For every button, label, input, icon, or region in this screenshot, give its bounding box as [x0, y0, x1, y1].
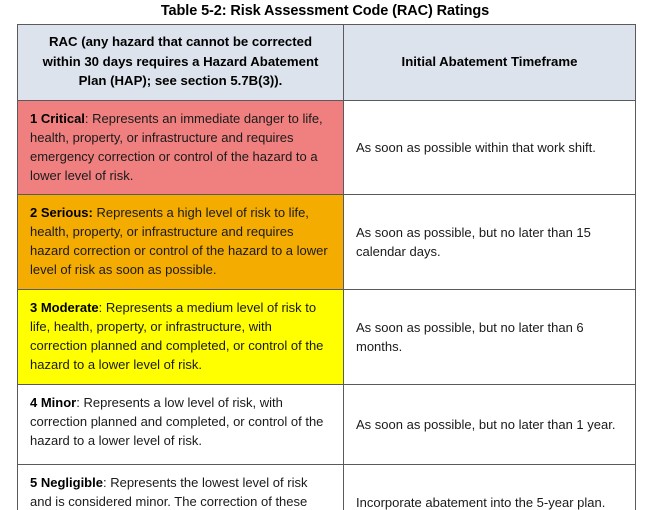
rac-cell-negligible-text: 5 Negligible: Represents the lowest leve… — [18, 465, 343, 510]
timeframe-text-moderate: As soon as possible, but no later than 6… — [344, 312, 635, 364]
rac-cell-minor: 4 Minor: Represents a low level of risk,… — [18, 385, 344, 465]
page-title: Table 5-2: Risk Assessment Code (RAC) Ra… — [0, 3, 650, 19]
table-row: 2 Serious: Represents a high level of ri… — [18, 195, 636, 290]
rac-label-moderate: 3 Moderate — [30, 300, 99, 315]
timeframe-cell-moderate: As soon as possible, but no later than 6… — [344, 290, 636, 385]
timeframe-text-serious: As soon as possible, but no later than 1… — [344, 217, 635, 269]
table-row: 4 Minor: Represents a low level of risk,… — [18, 385, 636, 465]
timeframe-text-minor: As soon as possible, but no later than 1… — [344, 409, 635, 441]
rac-label-critical: 1 Critical — [30, 111, 85, 126]
timeframe-cell-critical: As soon as possible within that work shi… — [344, 100, 636, 195]
rac-label-serious: 2 Serious: — [30, 205, 93, 220]
table-body: 1 Critical: Represents an immediate dang… — [18, 100, 636, 510]
column-header-timeframe-label: Initial Abatement Timeframe — [344, 45, 635, 81]
timeframe-cell-negligible: Incorporate abatement into the 5-year pl… — [344, 465, 636, 510]
timeframe-text-critical: As soon as possible within that work shi… — [344, 132, 635, 164]
column-header-timeframe: Initial Abatement Timeframe — [344, 25, 636, 101]
timeframe-text-negligible: Incorporate abatement into the 5-year pl… — [344, 487, 635, 510]
page-root: Table 5-2: Risk Assessment Code (RAC) Ra… — [0, 0, 650, 510]
table-row: 1 Critical: Represents an immediate dang… — [18, 100, 636, 195]
rac-cell-critical-text: 1 Critical: Represents an immediate dang… — [18, 101, 343, 195]
rac-cell-critical: 1 Critical: Represents an immediate dang… — [18, 100, 344, 195]
rac-cell-serious: 2 Serious: Represents a high level of ri… — [18, 195, 344, 290]
rac-label-minor: 4 Minor — [30, 395, 76, 410]
table-header: RAC (any hazard that cannot be corrected… — [18, 25, 636, 101]
rac-cell-serious-text: 2 Serious: Represents a high level of ri… — [18, 195, 343, 289]
table-row: 3 Moderate: Represents a medium level of… — [18, 290, 636, 385]
risk-assessment-code-table: RAC (any hazard that cannot be corrected… — [17, 24, 636, 510]
rac-cell-moderate: 3 Moderate: Represents a medium level of… — [18, 290, 344, 385]
rac-label-negligible: 5 Negligible — [30, 475, 103, 490]
timeframe-cell-serious: As soon as possible, but no later than 1… — [344, 195, 636, 290]
table-row: 5 Negligible: Represents the lowest leve… — [18, 465, 636, 510]
header-row: RAC (any hazard that cannot be corrected… — [18, 25, 636, 101]
column-header-rac-label: RAC (any hazard that cannot be corrected… — [18, 25, 343, 100]
column-header-rac: RAC (any hazard that cannot be corrected… — [18, 25, 344, 101]
rac-cell-negligible: 5 Negligible: Represents the lowest leve… — [18, 465, 344, 510]
rac-cell-minor-text: 4 Minor: Represents a low level of risk,… — [18, 385, 343, 460]
rac-cell-moderate-text: 3 Moderate: Represents a medium level of… — [18, 290, 343, 384]
timeframe-cell-minor: As soon as possible, but no later than 1… — [344, 385, 636, 465]
